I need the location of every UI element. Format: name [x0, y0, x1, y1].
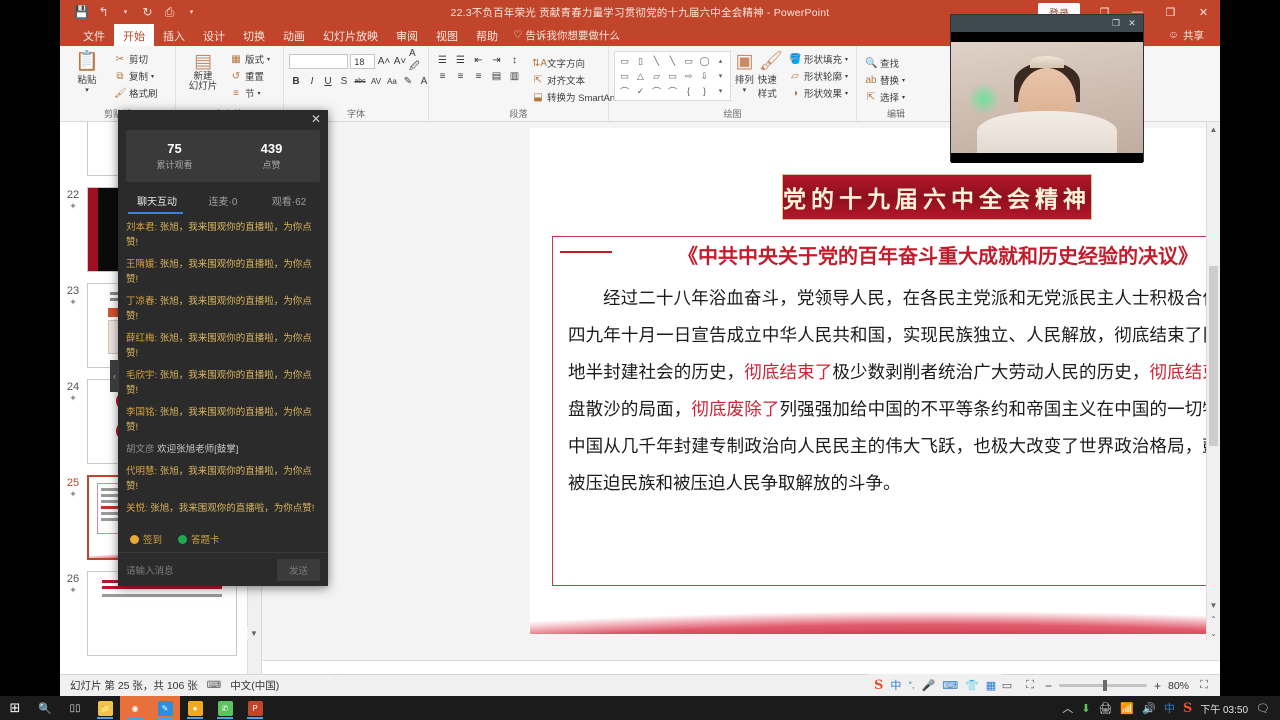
- shape-effects-button[interactable]: ◑ 形状效果 ▾: [786, 85, 851, 101]
- webcam-frame: [951, 42, 1143, 153]
- tab-animations[interactable]: 动画: [274, 24, 314, 46]
- search-button[interactable]: 🔍: [30, 696, 60, 720]
- increase-font-size-icon[interactable]: A˄: [377, 54, 391, 69]
- taskbar-app-browser[interactable]: ◉: [120, 696, 150, 720]
- views-count: 75: [167, 141, 181, 156]
- language-label[interactable]: 中文(中国): [230, 678, 279, 693]
- slideshow-view-button[interactable]: ⛶: [1022, 679, 1038, 692]
- shape-line-icon[interactable]: ╲: [649, 54, 664, 68]
- windows-taskbar: ⊞ 🔍 ▯▯ 📁 ◉ ✎ ●: [0, 696, 1280, 720]
- body-highlight: 彻底结束了: [744, 362, 832, 382]
- active-tab-indicator: [128, 212, 183, 214]
- numbering-icon[interactable]: ☰: [452, 53, 469, 68]
- animation-star-icon: ✦: [69, 297, 77, 308]
- zoom-level-label[interactable]: 80%: [1168, 680, 1189, 692]
- select-icon: ⇱: [865, 92, 877, 103]
- shape-fill-label: 形状填充: [804, 52, 842, 66]
- lightbulb-icon: ♡: [513, 29, 522, 41]
- chat-message: 李国铭: 张旭，我来围观你的直播啦，为你点赞!: [126, 405, 320, 435]
- chat-statistics: 75 累计观看 439 点赞: [126, 130, 320, 182]
- slide-scroll-up-button[interactable]: ▲: [1207, 122, 1220, 136]
- undo-icon[interactable]: ↰: [96, 6, 111, 18]
- thumbnail-number: 25: [67, 477, 79, 489]
- strikethrough-button[interactable]: abc: [353, 74, 367, 89]
- search-icon: 🔍: [38, 702, 52, 715]
- save-icon[interactable]: 💾: [74, 6, 89, 18]
- status-bar: 幻灯片 第 25 张，共 106 张 ⌨ 中文(中国) ▦ ▤ ▭ ⛶ − + …: [60, 674, 1220, 696]
- body-segment: 极少数剥削者统治广大劳动人民的历史，: [832, 362, 1149, 382]
- new-slide-icon: ▤: [194, 51, 212, 72]
- copy-button[interactable]: ⧉ 复制 ▾: [111, 68, 161, 84]
- webcam-window[interactable]: ❐ ✕: [950, 14, 1144, 162]
- stat-views: 75 累计观看: [126, 130, 223, 182]
- taskbar-app-media-player[interactable]: ●: [180, 696, 210, 720]
- maximize-restore-button[interactable]: ❐: [1154, 0, 1187, 24]
- task-view-button[interactable]: ▯▯: [60, 696, 90, 720]
- paste-dropdown-icon[interactable]: ▾: [85, 86, 89, 94]
- shape-outline-button[interactable]: ▱ 形状轮廓 ▾: [786, 68, 851, 84]
- replace-button[interactable]: ab 替换 ▾: [862, 72, 908, 88]
- shape-left-brace-icon[interactable]: {: [681, 84, 696, 98]
- smartart-icon: ⬓: [532, 92, 544, 103]
- align-text-icon: ⇱: [532, 75, 544, 86]
- chat-send-button[interactable]: 发送: [277, 559, 320, 581]
- chat-close-button[interactable]: ✕: [311, 112, 321, 126]
- task-view-icon: ▯▯: [69, 703, 80, 714]
- new-slide-label: 新建 幻灯片: [189, 72, 218, 92]
- find-button[interactable]: 🔍 查找: [862, 55, 908, 71]
- start-presentation-icon[interactable]: ⎙: [162, 6, 177, 18]
- webcam-close-button[interactable]: ✕: [1125, 18, 1139, 29]
- layout-dropdown-icon[interactable]: ▾: [267, 56, 270, 63]
- slide-banner[interactable]: 党的十九届六中全会精神: [782, 174, 1092, 220]
- replace-label: 替换: [880, 73, 899, 87]
- zoom-slider[interactable]: [1059, 684, 1147, 687]
- tab-help[interactable]: 帮助: [467, 24, 507, 46]
- slide-editing-pane: 党的十九届六中全会精神 《中共中央关于党的百年奋斗重大成就和历史经验的决议》 经…: [262, 122, 1220, 676]
- editing-group-label: 编辑: [862, 108, 930, 121]
- person-icon: ☺: [1168, 29, 1179, 41]
- replace-icon: ab: [865, 75, 877, 86]
- paste-icon: 📋: [75, 51, 99, 72]
- format-painter-label: 格式刷: [129, 86, 158, 100]
- quick-styles-icon: 🖌: [759, 51, 783, 72]
- webcam-person-shoulders: [977, 111, 1117, 153]
- animation-star-icon: ✦: [69, 585, 77, 596]
- printer-icon[interactable]: 🖨: [1098, 702, 1112, 715]
- shadow-button[interactable]: S: [337, 74, 351, 89]
- ime-mode-icon[interactable]: 中: [890, 677, 901, 693]
- drawing-group-label: 绘图: [614, 108, 851, 121]
- zoom-out-button[interactable]: −: [1045, 679, 1052, 693]
- layout-label: 版式: [245, 52, 264, 66]
- slide-counter[interactable]: 幻灯片 第 25 张，共 106 张: [70, 678, 198, 693]
- align-text-label: 对齐文本: [547, 73, 585, 87]
- ribbon-group-editing: 🔍 查找 ab 替换 ▾ ⇱ 选择 ▾: [857, 46, 935, 121]
- language-icon: ⌨: [207, 680, 221, 691]
- shape-effects-label: 形状效果: [804, 86, 842, 100]
- webcam-person-crown: [1030, 56, 1064, 68]
- webcam-title-bar: ❐ ✕: [951, 15, 1143, 32]
- ime-keyboard-icon[interactable]: ⌨: [942, 679, 958, 692]
- views-label: 累计观看: [156, 158, 192, 171]
- taskbar-app-file-explorer[interactable]: 📁: [90, 696, 120, 720]
- text-direction-label: 文字方向: [547, 56, 585, 70]
- chat-username: 王隋媛:: [126, 259, 157, 270]
- reset-label: 重置: [245, 69, 264, 83]
- thumbnail-number: 22: [67, 189, 79, 201]
- volume-icon[interactable]: 🔊: [1142, 702, 1156, 715]
- share-button[interactable]: ☺ 共享: [1160, 24, 1212, 46]
- stat-likes: 439 点赞: [223, 130, 320, 182]
- previous-slide-button[interactable]: ⌃: [1207, 612, 1220, 626]
- next-slide-button[interactable]: ⌄: [1207, 626, 1220, 640]
- slide-subtitle[interactable]: 《中共中央关于党的百年奋斗重大成就和历史经验的决议》: [530, 240, 1220, 269]
- close-button[interactable]: ✕: [1187, 0, 1220, 24]
- live-chat-panel[interactable]: ‹ ✕ 75 累计观看 439 点赞 聊天互动 连麦·0 观看·62 刘本君: …: [118, 110, 328, 586]
- chat-tab-bar: 聊天互动 连麦·0 观看·62: [118, 186, 328, 214]
- tell-me-box[interactable]: ♡ 告诉我你想要做什么: [507, 24, 620, 46]
- section-dropdown-icon[interactable]: ▾: [258, 90, 261, 97]
- replace-dropdown-icon[interactable]: ▾: [902, 77, 905, 84]
- answer-card-label: 答题卡: [191, 532, 220, 546]
- tab-chat[interactable]: 聊天互动: [124, 193, 190, 208]
- shape-right-brace-icon[interactable]: }: [697, 84, 712, 98]
- shape-outline-label: 形状轮廓: [804, 69, 842, 83]
- likes-label: 点赞: [262, 158, 280, 171]
- undo-dropdown-icon[interactable]: ▾: [118, 9, 133, 16]
- cut-button[interactable]: ✂ 剪切: [111, 51, 161, 67]
- chat-action-row: 签到 答题卡: [118, 526, 328, 552]
- thumbnail-number: 23: [67, 285, 79, 297]
- zoom-slider-knob[interactable]: [1103, 680, 1107, 691]
- character-spacing-button[interactable]: AV: [369, 74, 383, 89]
- download-icon[interactable]: ⬇: [1081, 702, 1090, 715]
- convert-smartart-label: 转换为 SmartArt: [547, 90, 616, 104]
- slide-pane-scrollbar[interactable]: ▲ ▼ ⌃ ⌄: [1206, 122, 1220, 640]
- chat-username: 代明慧:: [126, 466, 157, 477]
- quick-styles-label: 快速样式: [758, 72, 784, 100]
- powerpoint-icon: P: [248, 701, 263, 716]
- layout-button[interactable]: ▦ 版式 ▾: [227, 51, 273, 67]
- clock[interactable]: 下午 03:50: [1200, 701, 1248, 716]
- chat-message-system: 胡文彦 欢迎张旭老师[鼓掌]: [126, 442, 320, 457]
- chat-message-list[interactable]: 刘本君: 张旭，我来围观你的直播啦，为你点赞! 王隋媛: 张旭，我来围观你的直播…: [118, 214, 328, 526]
- likes-count: 439: [261, 141, 283, 156]
- zoom-in-button[interactable]: +: [1154, 679, 1161, 693]
- chat-message: 丁凉春: 张旭，我来围观你的直播啦，为你点赞!: [126, 294, 320, 324]
- paste-label: 粘贴: [77, 72, 96, 86]
- chat-message-input[interactable]: 请输入消息: [126, 563, 271, 577]
- select-dropdown-icon[interactable]: ▾: [902, 94, 905, 101]
- chat-username: 胡文彦: [126, 444, 155, 455]
- sogou-logo-icon[interactable]: S: [874, 678, 883, 693]
- decrease-font-size-icon[interactable]: A˅: [393, 54, 407, 69]
- chat-username: 关悦:: [126, 503, 148, 514]
- shape-fill-dropdown-icon[interactable]: ▾: [845, 56, 848, 63]
- shape-oval-icon[interactable]: ◯: [697, 54, 712, 68]
- section-label: 节: [245, 86, 255, 100]
- shape-right-arrow-icon[interactable]: ⇨: [681, 69, 696, 83]
- ime-punctuation-icon[interactable]: °,: [908, 680, 914, 690]
- arrange-dropdown-icon[interactable]: ▾: [743, 86, 747, 94]
- bold-button[interactable]: B: [289, 74, 303, 89]
- chat-message: 薛红梅: 张旭，我来围观你的直播啦，为你点赞!: [126, 331, 320, 361]
- italic-button[interactable]: I: [305, 74, 319, 89]
- quick-access-toolbar: 💾 ↰ ▾ ↻ ⎙ ▾: [60, 6, 199, 18]
- taskbar-app-messenger[interactable]: ✎: [150, 696, 180, 720]
- chat-message: 关悦: 张旭，我来围观你的直播啦，为你点赞!: [126, 501, 320, 516]
- line-spacing-icon[interactable]: ↕: [506, 53, 523, 68]
- ime-toolbox-icon[interactable]: ▦: [986, 679, 996, 692]
- shape-outline-icon: ▱: [789, 71, 801, 82]
- shapes-scroll-up-icon[interactable]: ▴: [713, 54, 728, 68]
- layout-icon: ▦: [230, 54, 242, 65]
- slide-scroll-down-button[interactable]: ▼: [1207, 598, 1220, 612]
- chat-username: 李国铭:: [126, 407, 157, 418]
- align-left-icon[interactable]: ≡: [434, 69, 451, 84]
- text-direction-icon: ⇅A: [532, 58, 544, 69]
- chat-username: 薛红梅:: [126, 333, 157, 344]
- find-label: 查找: [880, 56, 899, 70]
- windows-start-icon: ⊞: [10, 700, 21, 716]
- shape-rect-icon[interactable]: ▭: [617, 69, 632, 83]
- shape-triangle-icon[interactable]: △: [633, 69, 648, 83]
- webcam-light-glow: [967, 84, 1001, 114]
- shape-rounded-rect-icon[interactable]: ▭: [681, 54, 696, 68]
- chat-header: ✕: [118, 110, 328, 130]
- copy-dropdown-icon[interactable]: ▾: [151, 73, 154, 80]
- shapes-scroll-down-icon[interactable]: ▾: [713, 69, 728, 83]
- tab-transitions[interactable]: 切换: [234, 24, 274, 46]
- text-highlight-button[interactable]: ✎: [401, 74, 415, 89]
- chat-username: 丁凉春:: [126, 296, 157, 307]
- shape-textbox-icon[interactable]: ▭: [617, 54, 632, 68]
- system-tray: ︿ ⬇ 🖨 📶 🔊 中 S 下午 03:50 🗨: [1062, 700, 1280, 716]
- increase-indent-icon[interactable]: ⇥: [488, 53, 505, 68]
- redo-icon[interactable]: ↻: [140, 6, 155, 18]
- tab-file[interactable]: 文件: [74, 24, 114, 46]
- wechat-icon: ✆: [218, 701, 233, 716]
- folder-icon: 📁: [98, 701, 113, 716]
- taskbar-left: ⊞ 🔍 ▯▯ 📁 ◉ ✎ ●: [0, 696, 270, 720]
- arrange-icon: ▣: [735, 51, 753, 72]
- cut-label: 剪切: [129, 52, 148, 66]
- shape-effects-icon: ◑: [789, 88, 801, 99]
- columns-icon[interactable]: ▥: [506, 69, 523, 84]
- webcam-restore-button[interactable]: ❐: [1109, 18, 1123, 29]
- animation-star-icon: ✦: [69, 201, 77, 212]
- chat-body: 张旭，我来围观你的直播啦，为你点赞!: [150, 503, 314, 514]
- webcam-video: [951, 32, 1143, 163]
- bullets-icon[interactable]: ☰: [434, 53, 451, 68]
- shape-outline-dropdown-icon[interactable]: ▾: [845, 73, 848, 80]
- shape-vertical-textbox-icon[interactable]: ▯: [633, 54, 648, 68]
- chat-body: 欢迎张旭老师[鼓掌]: [157, 444, 238, 455]
- font-size-input[interactable]: 18: [350, 54, 375, 69]
- thumbnail-number: 26: [67, 573, 79, 585]
- tab-mic-queue[interactable]: 连麦·0: [190, 193, 256, 208]
- select-label: 选择: [880, 90, 899, 104]
- shape-fill-button[interactable]: 🪣 形状填充 ▾: [786, 51, 851, 67]
- text-direction-button[interactable]: ⇅A 文字方向: [529, 55, 619, 71]
- tab-slideshow[interactable]: 幻灯片放映: [314, 24, 387, 46]
- tray-expand-icon[interactable]: ︿: [1062, 700, 1073, 716]
- desktop-screen: 💾 ↰ ▾ ↻ ⎙ ▾ 22.3不负百年荣光 贡献青春力量学习贯彻党的十九届六中…: [0, 0, 1280, 720]
- shape-fill-icon: 🪣: [789, 54, 801, 65]
- tab-design[interactable]: 设计: [194, 24, 234, 46]
- shape-parallelogram-icon[interactable]: ▱: [649, 69, 664, 83]
- chat-username: 毛欣宇:: [126, 370, 157, 381]
- ime-skin-icon[interactable]: 👕: [965, 679, 979, 692]
- shape-effects-dropdown-icon[interactable]: ▾: [845, 90, 848, 97]
- taskbar-app-wechat[interactable]: ✆: [210, 696, 240, 720]
- search-icon: 🔍: [865, 58, 877, 69]
- tell-me-label: 告诉我你想要做什么: [525, 28, 620, 43]
- start-button[interactable]: ⊞: [0, 696, 30, 720]
- check-in-label: 签到: [143, 532, 162, 546]
- section-icon: ≡: [230, 88, 242, 99]
- reset-icon: ↺: [230, 71, 242, 82]
- tab-insert[interactable]: 插入: [154, 24, 194, 46]
- shapes-more-icon[interactable]: ▾: [713, 84, 728, 98]
- taskbar-app-powerpoint[interactable]: P: [240, 696, 270, 720]
- arrange-button[interactable]: ▣ 排列 ▾: [733, 49, 756, 94]
- decrease-indent-icon[interactable]: ⇤: [470, 53, 487, 68]
- change-case-button[interactable]: Aa: [385, 74, 399, 89]
- reset-button[interactable]: ↺ 重置: [227, 68, 273, 84]
- select-button[interactable]: ⇱ 选择 ▾: [862, 89, 908, 105]
- ribbon-group-paragraph: ☰ ☰ ⇤ ⇥ ↕ ≡ ≡ ≡ ▤ ▥ ⇅A 文字方向: [429, 46, 609, 121]
- tab-home[interactable]: 开始: [114, 24, 154, 46]
- brush-icon: 🖌: [114, 88, 126, 99]
- slide-banner-title: 党的十九届六中全会精神: [783, 180, 1091, 214]
- new-slide-button[interactable]: ▤ 新建 幻灯片: [181, 49, 225, 92]
- status-left: 幻灯片 第 25 张，共 106 张 ⌨ 中文(中国): [60, 678, 279, 693]
- messenger-icon: ✎: [158, 701, 173, 716]
- tab-viewers[interactable]: 观看·62: [256, 193, 322, 208]
- font-name-input[interactable]: [289, 54, 348, 69]
- customize-qat-icon[interactable]: ▾: [184, 9, 199, 16]
- section-button[interactable]: ≡ 节 ▾: [227, 85, 273, 101]
- chat-collapse-button[interactable]: ‹: [110, 360, 119, 392]
- shape-scribble-icon[interactable]: ✓: [633, 84, 648, 98]
- copy-icon: ⧉: [114, 71, 126, 82]
- arrange-label: 排列: [735, 72, 754, 86]
- body-highlight: 彻底废除了: [691, 399, 779, 419]
- align-center-icon[interactable]: ≡: [452, 69, 469, 84]
- underline-button[interactable]: U: [321, 74, 335, 89]
- thumbnail-number: 24: [67, 381, 79, 393]
- check-in-button[interactable]: 签到: [130, 532, 162, 546]
- quick-styles-button[interactable]: 🖌 快速样式: [758, 49, 784, 100]
- clear-formatting-icon[interactable]: A🖉: [409, 54, 423, 69]
- shape-arrow-line-icon[interactable]: ╲: [665, 54, 680, 68]
- chat-message: 王隋媛: 张旭，我来围观你的直播啦，为你点赞!: [126, 257, 320, 287]
- paste-button[interactable]: 📋 粘贴 ▾: [65, 49, 109, 94]
- convert-smartart-button[interactable]: ⬓ 转换为 SmartArt: [529, 89, 619, 105]
- animation-star-icon: ✦: [69, 489, 77, 500]
- network-icon[interactable]: 📶: [1120, 702, 1134, 715]
- align-text-button[interactable]: ⇱ 对齐文本: [529, 72, 619, 88]
- scissors-icon: ✂: [114, 54, 126, 65]
- chat-username: 刘本君:: [126, 222, 157, 233]
- chat-message: 代明慧: 张旭，我来围观你的直播啦，为你点赞!: [126, 464, 320, 494]
- tab-view[interactable]: 视图: [427, 24, 467, 46]
- answer-card-icon: [178, 535, 187, 544]
- tab-review[interactable]: 审阅: [387, 24, 427, 46]
- ime-indicator-icon[interactable]: 中: [1164, 700, 1175, 716]
- check-in-icon: [130, 535, 139, 544]
- sogou-ime-bar[interactable]: S 中 °, 🎤 ⌨ 👕 ▦: [868, 674, 1002, 696]
- chat-input-row: 请输入消息 发送: [118, 552, 328, 586]
- paragraph-group-label: 段落: [434, 108, 603, 121]
- ribbon-group-drawing: ▭ ▯ ╲ ╲ ▭ ◯ ▴ ▭ △ ▱ ▭ ⇨ ⇩ ▾ ⌒: [609, 46, 857, 121]
- chat-message: 刘本君: 张旭，我来围观你的直播啦，为你点赞!: [126, 220, 320, 250]
- current-slide[interactable]: 党的十九届六中全会精神 《中共中央关于党的百年奋斗重大成就和历史经验的决议》 经…: [530, 128, 1220, 634]
- copy-label: 复制: [129, 69, 148, 83]
- ime-voice-icon[interactable]: 🎤: [922, 679, 936, 692]
- slide-body-text[interactable]: 经过二十八年浴血奋斗，党领导人民，在各民主党派和无党派民主人士积极合作下，于一九…: [568, 280, 1220, 502]
- browser-icon: ◉: [128, 701, 143, 716]
- notification-center-icon[interactable]: 🗨: [1256, 702, 1270, 715]
- animation-star-icon: ✦: [69, 393, 77, 404]
- shape-down-arrow-icon[interactable]: ⇩: [697, 69, 712, 83]
- share-label: 共享: [1183, 28, 1204, 43]
- align-right-icon[interactable]: ≡: [470, 69, 487, 84]
- shape-freeform-icon[interactable]: ⌒: [665, 84, 680, 98]
- thumbnail-scroll-down-button[interactable]: ▼: [247, 626, 261, 640]
- shape-arc-icon[interactable]: ⌒: [617, 84, 632, 98]
- justify-icon[interactable]: ▤: [488, 69, 505, 84]
- chat-message: 毛欣宇: 张旭，我来围观你的直播啦，为你点赞!: [126, 368, 320, 398]
- answer-card-button[interactable]: 答题卡: [178, 532, 220, 546]
- format-painter-button[interactable]: 🖌 格式刷: [111, 85, 161, 101]
- media-player-icon: ●: [188, 701, 203, 716]
- fit-slide-to-window-button[interactable]: ⛶: [1196, 679, 1212, 692]
- sogou-tray-icon[interactable]: S: [1183, 701, 1192, 716]
- shape-trapezoid-icon[interactable]: ▭: [665, 69, 680, 83]
- shapes-gallery[interactable]: ▭ ▯ ╲ ╲ ▭ ◯ ▴ ▭ △ ▱ ▭ ⇨ ⇩ ▾ ⌒: [614, 51, 731, 101]
- shape-curve-icon[interactable]: ⌒: [649, 84, 664, 98]
